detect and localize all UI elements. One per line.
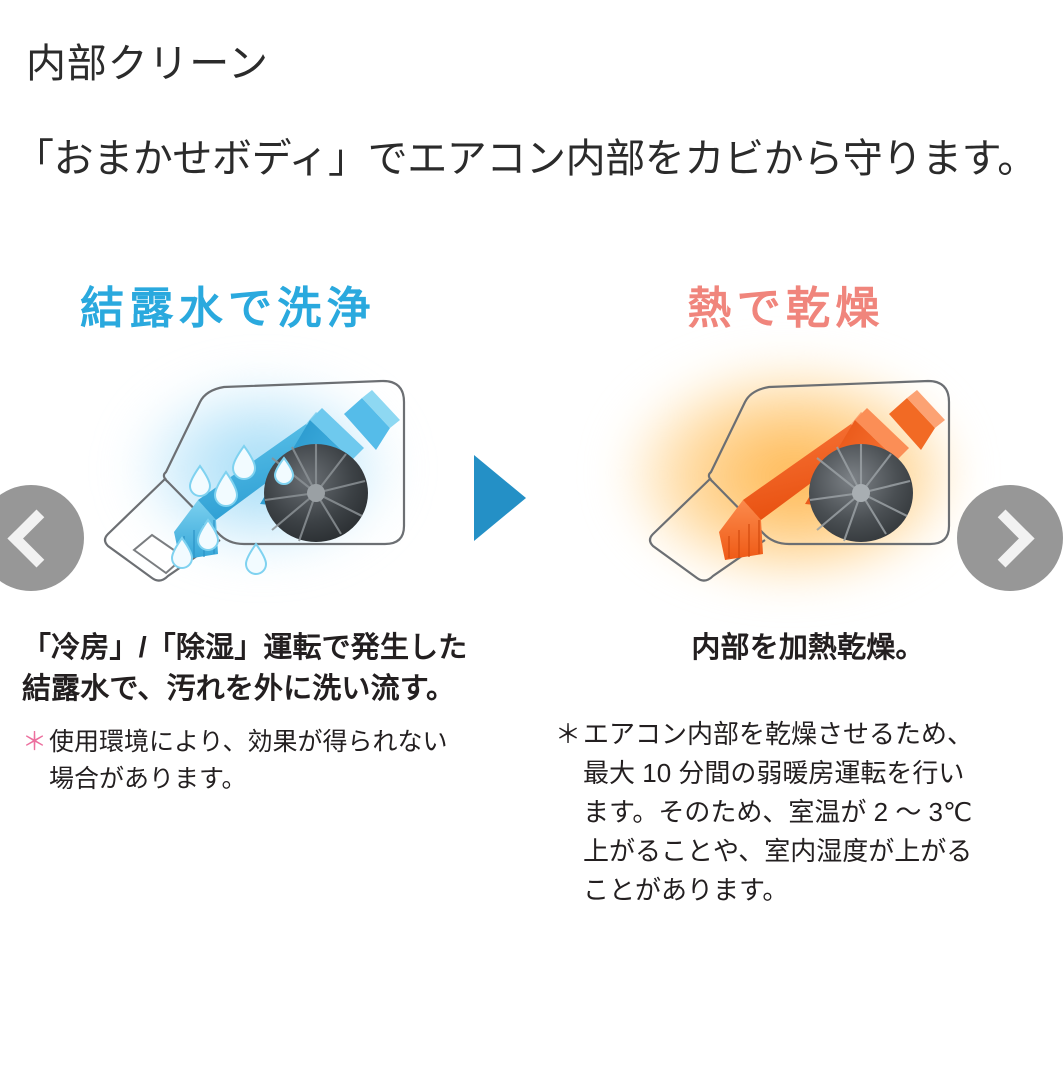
caption-line: 結露水で、汚れを外に洗い流す。 <box>22 673 455 705</box>
panel-heading-cooling-wash: 結露水で洗浄 <box>0 272 478 336</box>
panel-heat-dry: 熱で乾燥 <box>533 250 1063 950</box>
note-line: ます。そのため、室温が 2 〜 3℃ <box>583 793 1063 832</box>
page-subtitle: 「おまかせボディ」でエアコン内部をカビから守ります。 <box>14 136 1037 182</box>
caption-line: 内部を加熱乾燥。 <box>691 632 924 664</box>
note-cooling: ＊ 使用環境により、効果が得られない 場合があります。 <box>22 724 492 798</box>
panel-cooling-wash: 結露水で洗浄 <box>0 250 500 950</box>
note-asterisk-icon: ＊ <box>555 715 583 754</box>
feature-panels: 結露水で洗浄 <box>0 250 1063 950</box>
note-body: エアコン内部を乾燥させるため、 最大 10 分間の弱暖房運転を行い ます。そのた… <box>583 715 1063 910</box>
note-line: 最大 10 分間の弱暖房運転を行い <box>583 754 1063 793</box>
panel-heading-heat-dry: 熱で乾燥 <box>521 272 1051 336</box>
chevron-right-icon <box>976 509 1034 567</box>
note-line: 場合があります。 <box>49 761 492 798</box>
illustration-area-cooling <box>0 350 500 610</box>
note-line: エアコン内部を乾燥させるため、 <box>583 715 1063 754</box>
caption-main-cooling: 「冷房」/「除湿」運転で発生した 結露水で、汚れを外に洗い流す。 <box>22 628 492 710</box>
note-asterisk-icon: ＊ <box>22 724 49 761</box>
caption-heat-dry: 内部を加熱乾燥。 ＊ エアコン内部を乾燥させるため、 最大 10 分間の弱暖房運… <box>533 628 1063 910</box>
page-title: 内部クリーン <box>26 42 269 86</box>
chevron-left-icon <box>7 509 65 567</box>
fan-drum <box>264 444 368 542</box>
aircon-interior-heating-illustration <box>593 354 993 594</box>
note-heating: ＊ エアコン内部を乾燥させるため、 最大 10 分間の弱暖房運転を行い ます。そ… <box>533 715 1063 910</box>
internal-clean-feature-page: 内部クリーン 「おまかせボディ」でエアコン内部をカビから守ります。 結露水で洗浄 <box>0 0 1063 1080</box>
note-line: 上がることや、室内湿度が上がる <box>583 832 1063 871</box>
caption-cooling-wash: 「冷房」/「除湿」運転で発生した 結露水で、汚れを外に洗い流す。 ＊ 使用環境に… <box>22 628 492 798</box>
note-line: ことがあります。 <box>583 871 1063 910</box>
fan-drum <box>809 444 913 542</box>
note-body: 使用環境により、効果が得られない 場合があります。 <box>49 724 492 798</box>
triangle-right-icon <box>474 455 526 541</box>
caption-line: 「冷房」/「除湿」運転で発生した <box>22 632 467 664</box>
note-line: 使用環境により、効果が得られない <box>49 724 492 761</box>
aircon-interior-cooling-illustration <box>48 354 448 594</box>
caption-main-heating: 内部を加熱乾燥。 <box>533 628 1063 669</box>
carousel-next-button[interactable] <box>957 485 1063 591</box>
